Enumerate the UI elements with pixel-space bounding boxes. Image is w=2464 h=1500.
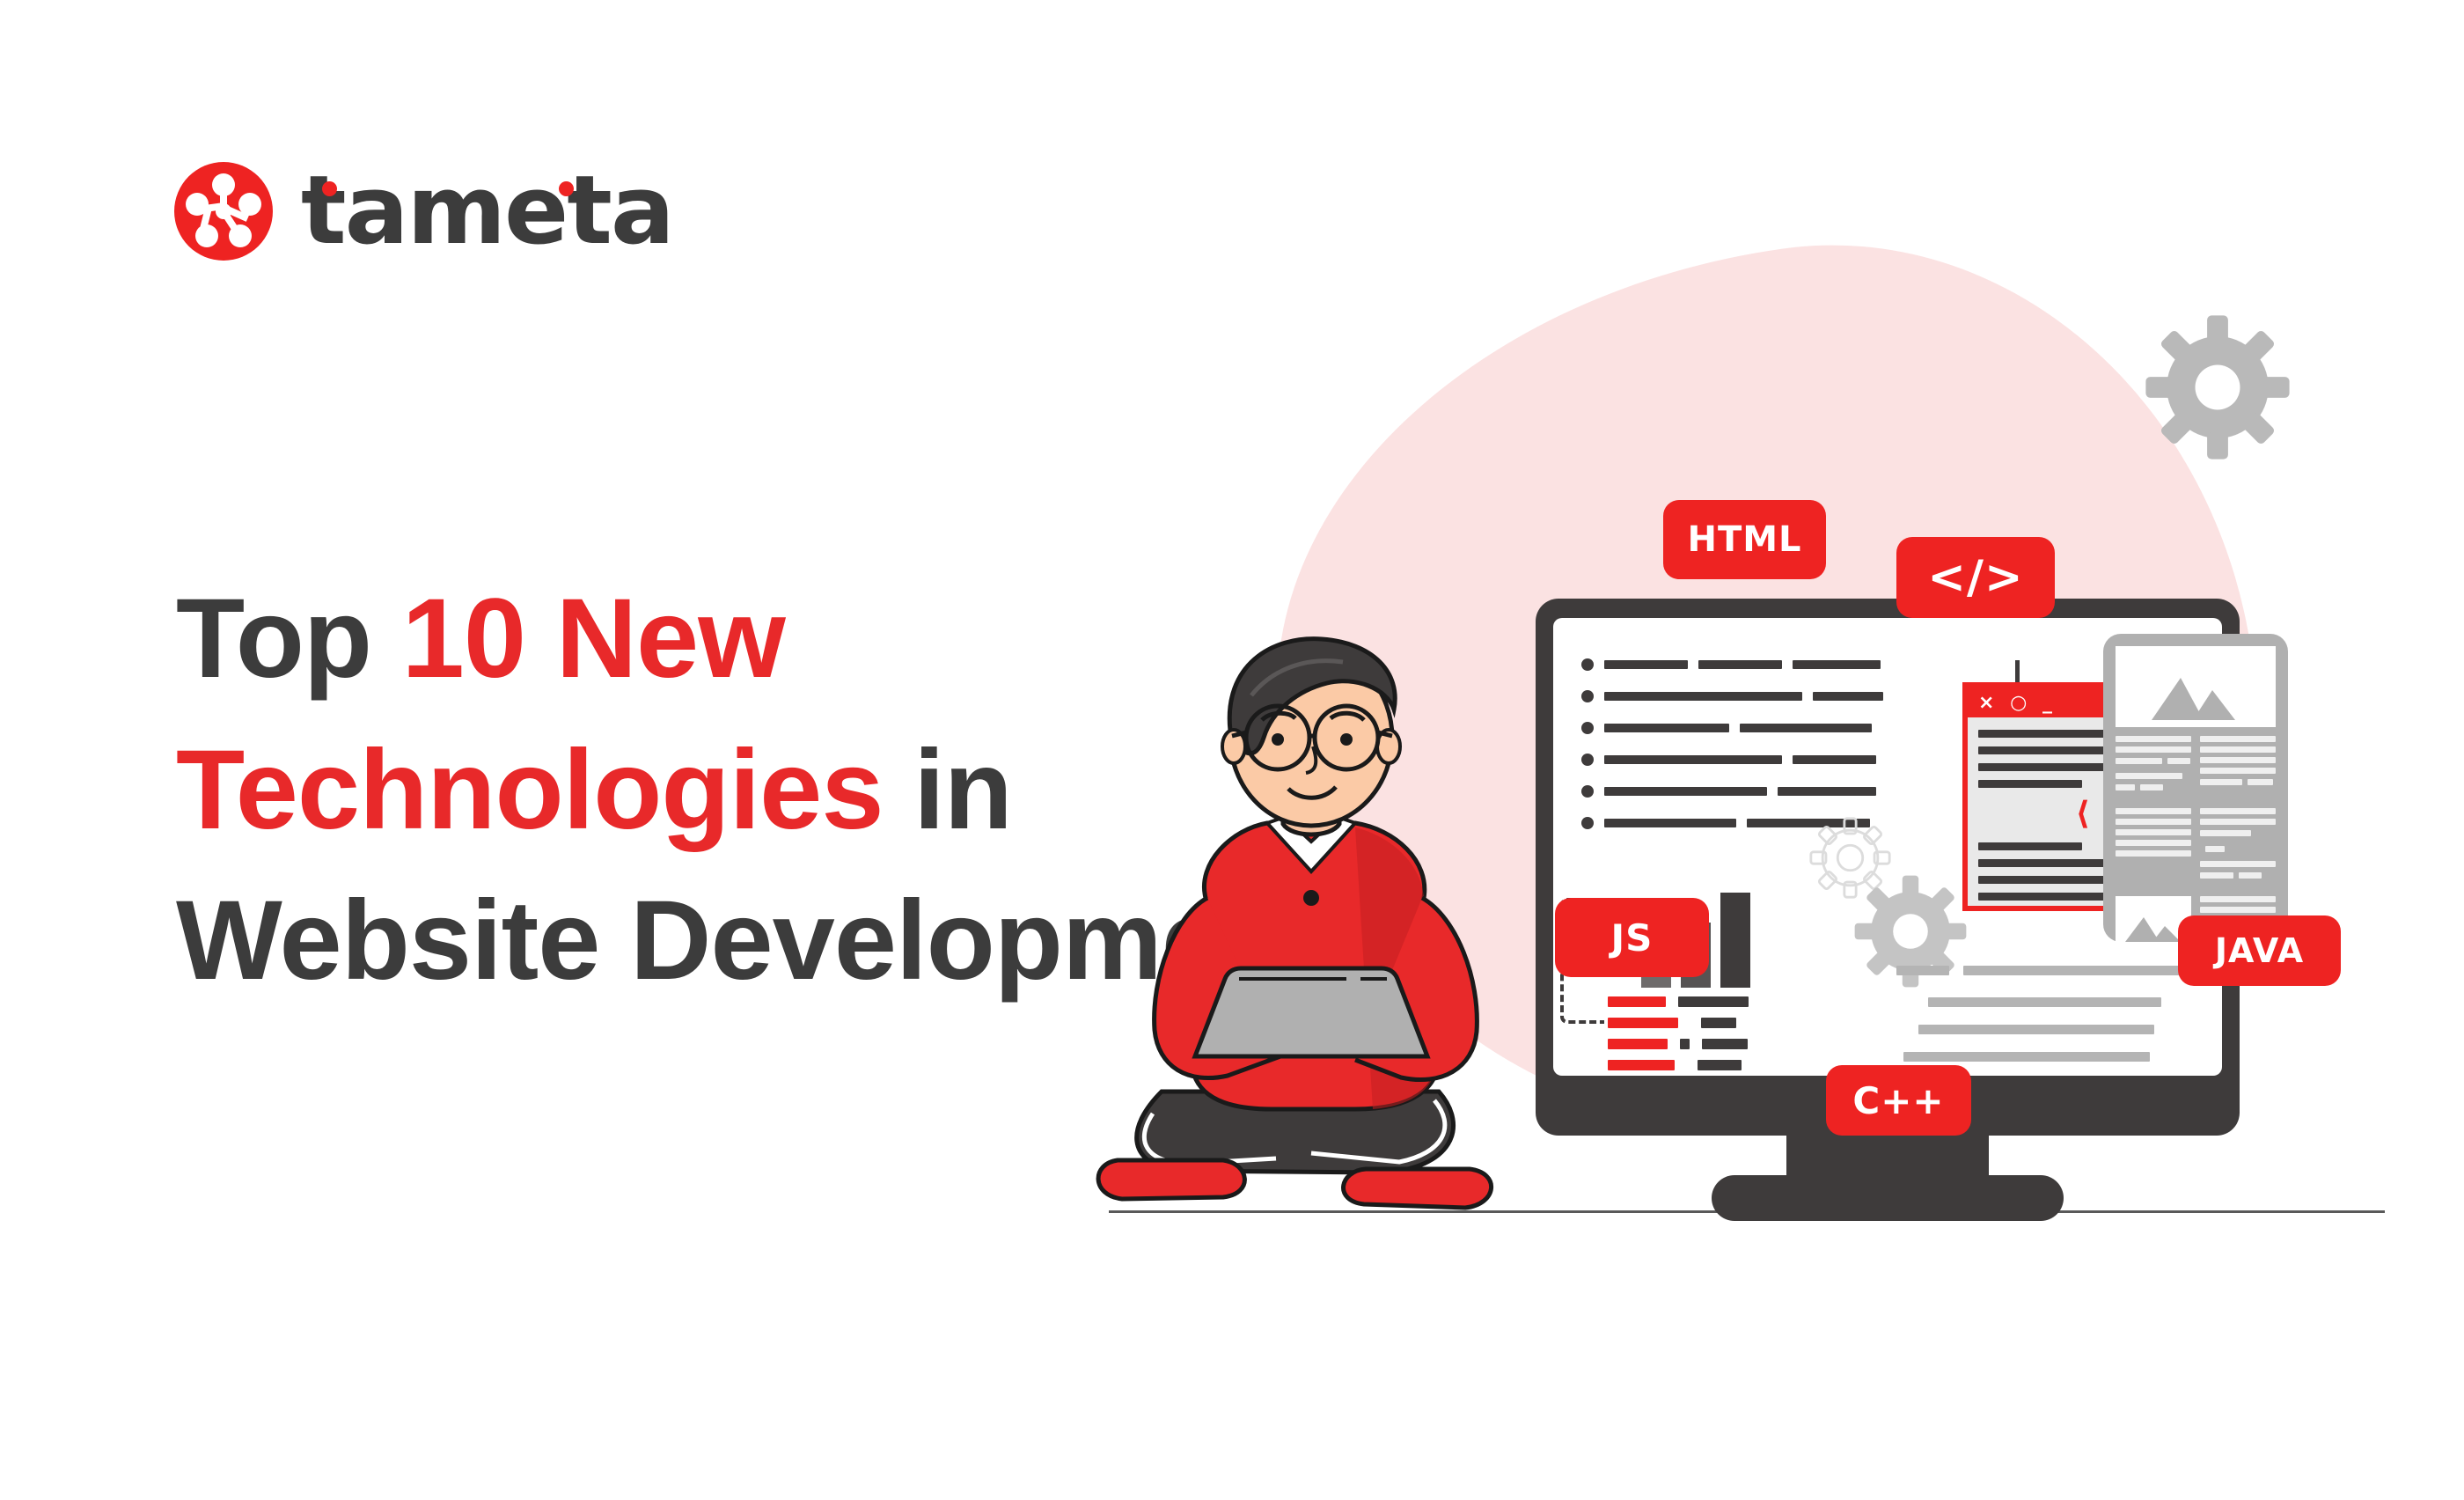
bullet-dot-icon bbox=[1581, 658, 1594, 671]
poster-canvas: tameta Top 10 New Technologies in Websit… bbox=[0, 0, 2464, 1500]
headline-accent-1: 10 New bbox=[402, 576, 785, 702]
code-line bbox=[1608, 1060, 1749, 1070]
bullet-dot-icon bbox=[1581, 722, 1594, 734]
brand-wordmark: tameta bbox=[301, 164, 673, 259]
badge-java[interactable]: JAVA bbox=[2178, 915, 2341, 986]
badge-cpp[interactable]: C++ bbox=[1826, 1065, 1971, 1136]
badge-html[interactable]: HTML bbox=[1663, 500, 1826, 579]
phone-content-columns bbox=[2116, 736, 2276, 799]
list-item bbox=[1581, 722, 1995, 734]
badge-js[interactable]: JS bbox=[1555, 898, 1709, 977]
molecule-network-icon bbox=[172, 160, 275, 262]
phone-column-right-2 bbox=[2200, 808, 2276, 887]
bullet-dot-icon bbox=[1581, 785, 1594, 798]
code-line bbox=[1608, 1039, 1749, 1049]
bullet-list bbox=[1581, 658, 1995, 849]
list-item bbox=[1581, 658, 1995, 671]
mountain-image-icon bbox=[2116, 646, 2276, 727]
bullet-dot-icon bbox=[1581, 690, 1594, 702]
headline-accent-2: Technologies bbox=[176, 727, 884, 853]
logo-dot-1 bbox=[322, 181, 337, 196]
bullet-dot-icon bbox=[1581, 817, 1594, 829]
gear-icon-large bbox=[2143, 312, 2292, 462]
bullet-dot-icon bbox=[1581, 754, 1594, 766]
code-line-group bbox=[1608, 996, 1749, 1076]
monitor-base bbox=[1712, 1175, 2064, 1221]
developer-character bbox=[1091, 634, 1549, 1232]
badge-code-icon[interactable]: </> bbox=[1896, 537, 2055, 618]
phone-content-columns-2 bbox=[2116, 808, 2276, 887]
list-item bbox=[1581, 817, 1995, 829]
phone-mockup[interactable] bbox=[2103, 634, 2288, 942]
phone-column-left bbox=[2116, 736, 2191, 799]
phone-column-left-2 bbox=[2116, 808, 2191, 887]
list-item bbox=[1581, 754, 1995, 766]
logo-dot-2 bbox=[559, 181, 574, 196]
chart-bar bbox=[1720, 893, 1750, 988]
phone-column-right bbox=[2200, 736, 2276, 799]
brand-logo[interactable]: tameta bbox=[172, 160, 673, 262]
list-item bbox=[1581, 785, 1995, 798]
hero-illustration: × ○ _ ⟨ ⟩ bbox=[1091, 220, 2464, 1320]
gray-text-lines bbox=[1896, 966, 2187, 1076]
code-line bbox=[1608, 1018, 1749, 1028]
headline-plain-2: in bbox=[884, 727, 1012, 853]
list-item bbox=[1581, 690, 1995, 702]
brand-name-text: tameta bbox=[301, 156, 673, 266]
code-line bbox=[1608, 996, 1749, 1007]
headline-plain-1: Top bbox=[176, 576, 402, 702]
